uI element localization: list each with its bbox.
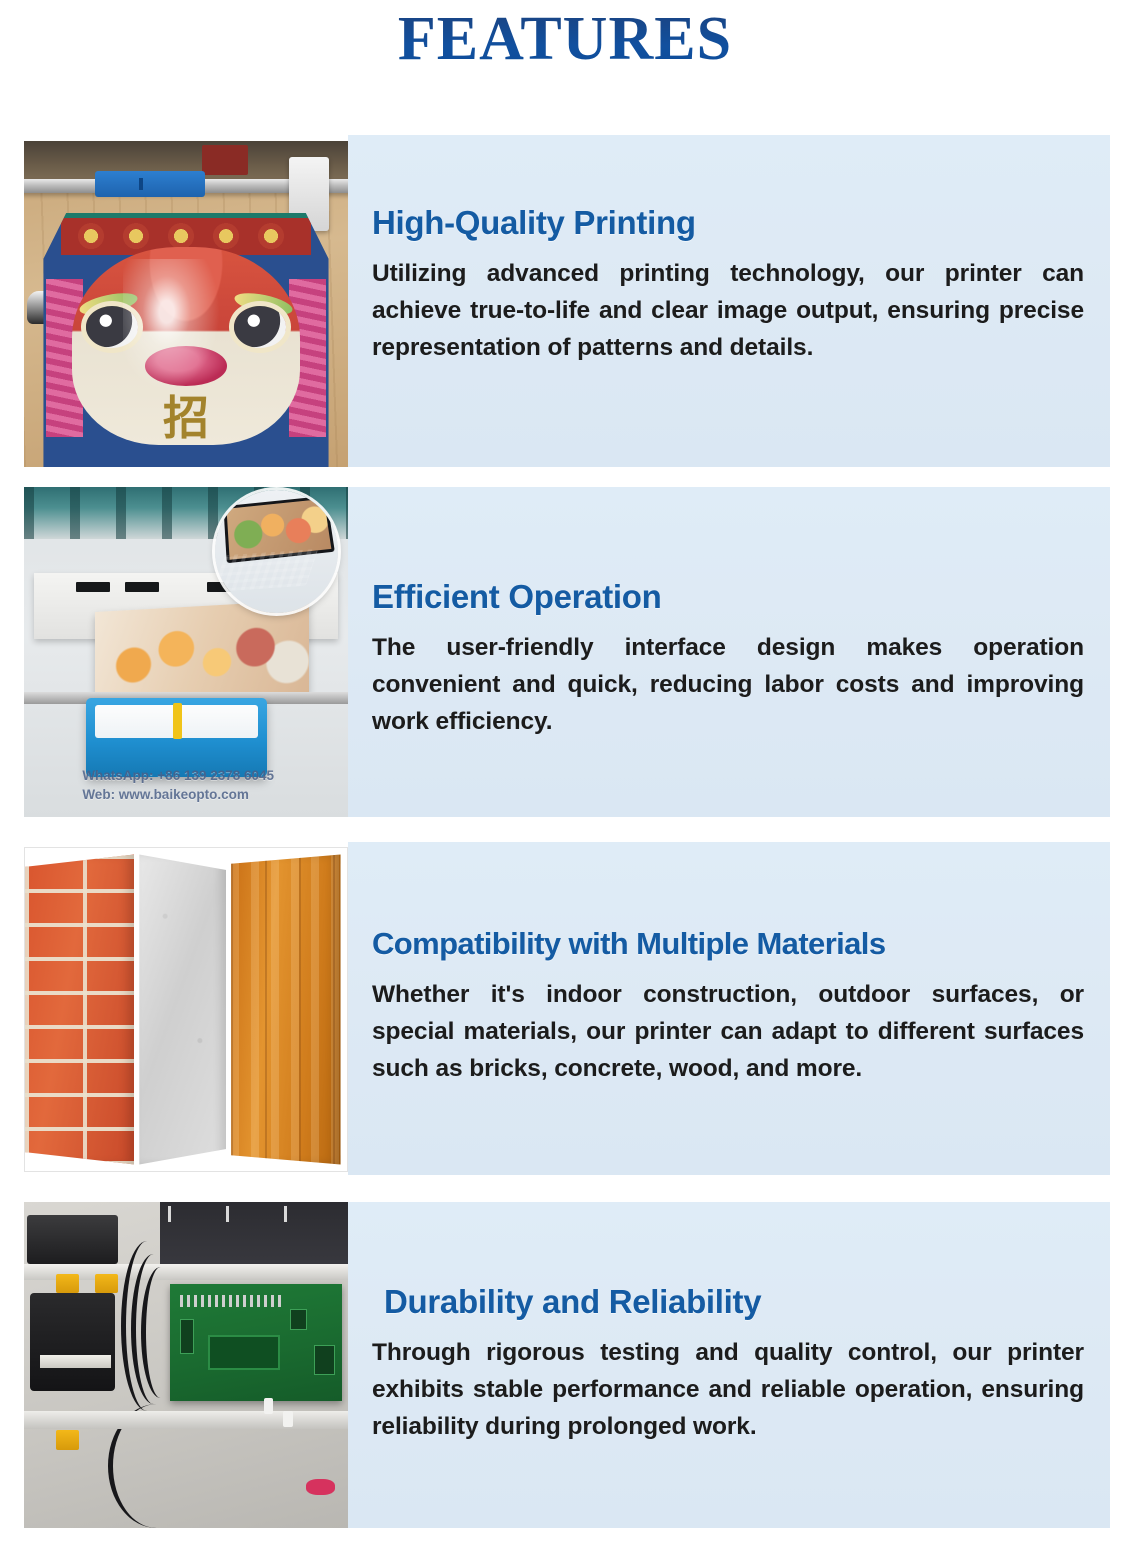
laptop-inset-circle [215,490,338,613]
printer-internals-photo [24,1202,348,1528]
black-module [27,1215,118,1264]
mask-kanji-character: 招 [163,395,209,441]
flatbed-printer-photo: WhatsApp: +86 139 2378 6045 Web: www.bai… [24,487,348,817]
pcb-chip [314,1345,335,1376]
page-title: FEATURES [0,0,1130,84]
feature-body: Whether it's indoor construction, outdoo… [372,976,1084,1087]
brick-panel [25,854,134,1164]
red-component [306,1479,335,1495]
feature-image-high-quality-printing: 招 [24,141,348,467]
mask-nose [145,346,227,386]
contact-watermark: WhatsApp: +86 139 2378 6045 Web: www.bai… [82,766,274,804]
feature-image-durability [24,1202,348,1528]
feature-body: Utilizing advanced printing technology, … [372,255,1084,366]
feature-heading: Compatibility with Multiple Materials [372,924,1084,964]
pcb-chip [290,1309,307,1330]
feature-image-materials [24,847,348,1172]
bed-slot [125,582,159,592]
feature-card-durability-and-reliability: Durability and Reliability Through rigor… [24,1202,1110,1528]
watermark-website: Web: www.baikeopto.com [82,785,274,804]
feature-card-high-quality-printing: 招 High-Quality Printing Utilizing advanc… [24,135,1110,467]
white-connector [264,1398,274,1414]
feature-image-efficient-operation: WhatsApp: +86 139 2378 6045 Web: www.bai… [24,487,348,817]
watermark-whatsapp: WhatsApp: +86 139 2378 6045 [82,766,274,785]
frame-rail-lower [24,1411,348,1429]
feature-text-block: Efficient Operation The user-friendly in… [372,577,1084,740]
white-connector [283,1411,293,1427]
control-circuit-board [170,1284,342,1401]
feature-card-efficient-operation: WhatsApp: +86 139 2378 6045 Web: www.bai… [24,487,1110,817]
feature-heading: Durability and Reliability [372,1282,1084,1322]
lion-mask-face: 招 [72,247,300,445]
features-page: FEATURES [0,0,1130,1554]
yellow-connector [95,1274,118,1294]
laptop-keyboard [215,549,318,592]
ribbon-cable [40,1355,111,1368]
feature-text-block: Compatibility with Multiple Materials Wh… [372,924,1084,1087]
yellow-connector [56,1430,79,1450]
printed-plush-toy-board [95,600,309,704]
yellow-connector [56,1274,79,1294]
feature-text-block: Durability and Reliability Through rigor… [372,1282,1084,1445]
mask-eye-left [86,306,138,348]
feature-heading: High-Quality Printing [372,203,1084,243]
motor-assembly [30,1293,114,1391]
feature-body: Through rigorous testing and quality con… [372,1334,1084,1445]
pcb-chip [180,1319,194,1354]
bed-slot [76,582,110,592]
printer-carriage [95,171,205,197]
feature-card-compatibility-with-multiple-materials: Compatibility with Multiple Materials Wh… [24,842,1110,1175]
concrete-panel [139,854,226,1164]
material-panels-photo [24,847,348,1172]
feature-heading: Efficient Operation [372,577,1084,617]
lion-mask-print-photo: 招 [24,141,348,467]
feature-text-block: High-Quality Printing Utilizing advanced… [372,203,1084,366]
cable-bundle [141,1267,180,1397]
wood-panel [231,854,340,1164]
printed-fabric-mat: 招 [43,213,328,467]
feature-body: The user-friendly interface design makes… [372,629,1084,740]
mask-eye-right [234,306,286,348]
